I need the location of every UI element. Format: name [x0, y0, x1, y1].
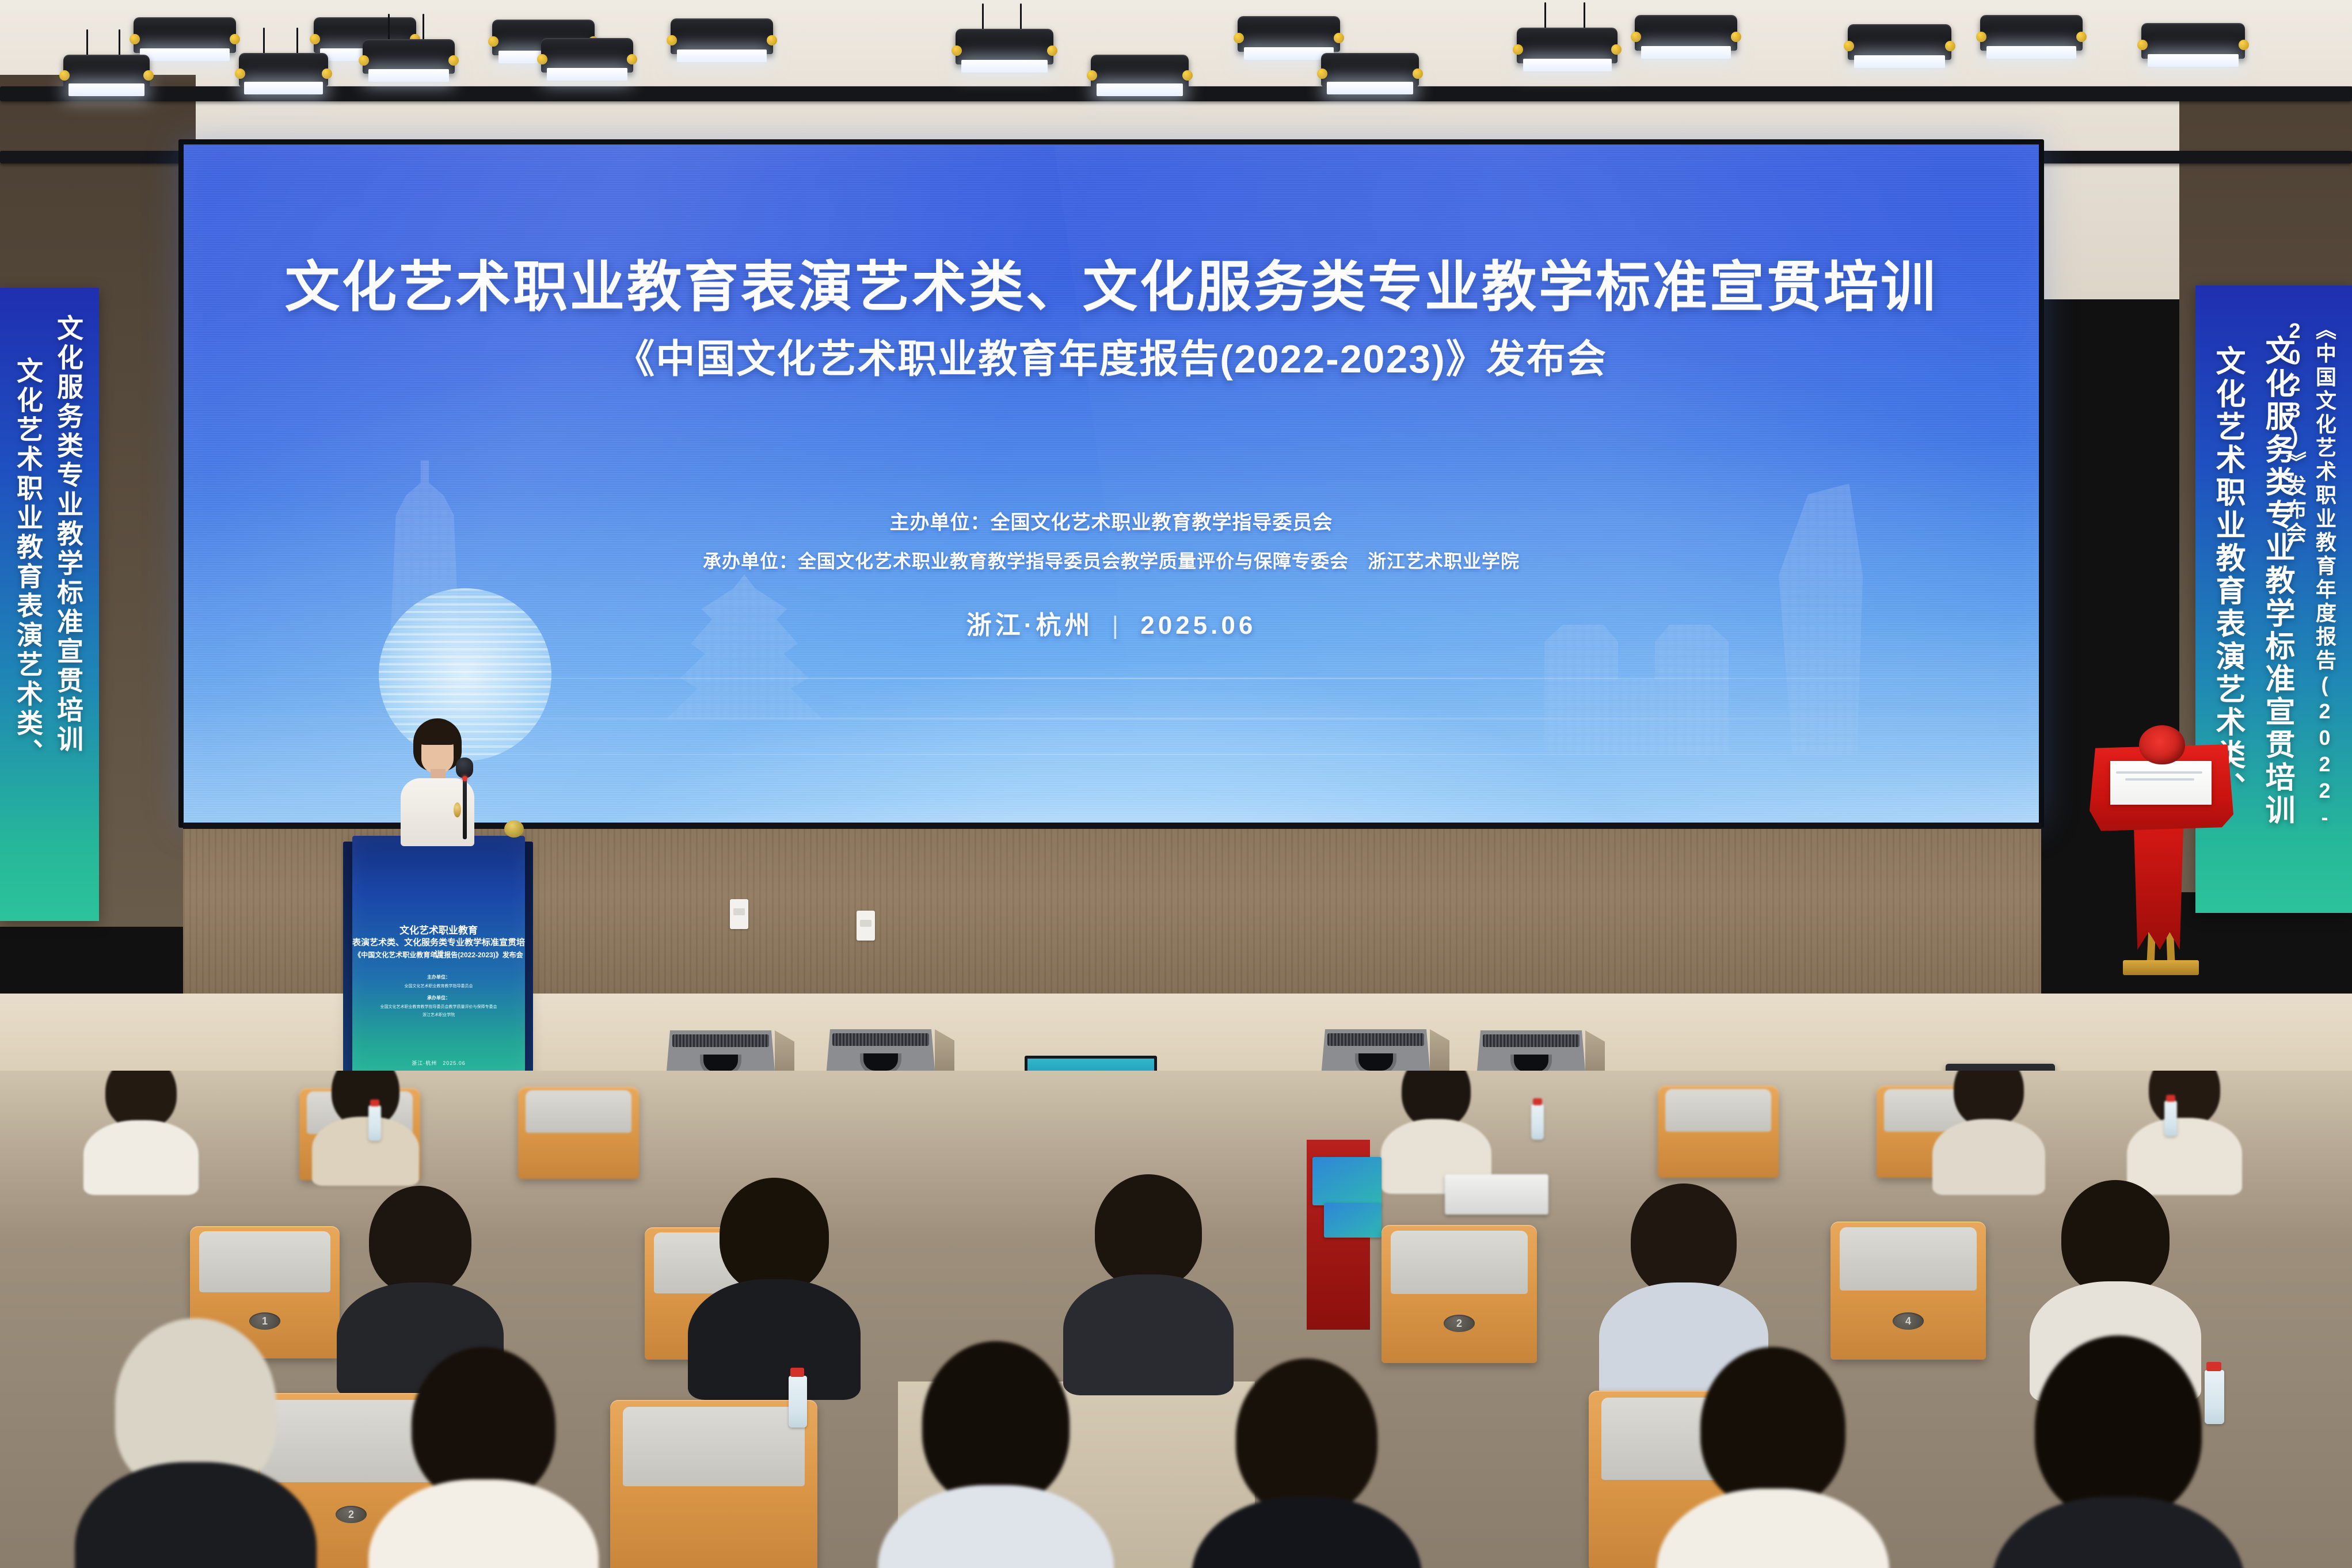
microphone-head-icon [456, 758, 473, 778]
laptop [1445, 1174, 1548, 1215]
event-co-organizer-line: 承办单位：全国文化艺术职业教育教学指导委员会教学质量评价与保障专委会 浙江艺术职… [183, 547, 2039, 573]
water-bottle [1531, 1104, 1544, 1140]
audience-member [1220, 1358, 1393, 1568]
left-banner-column-1: 文化艺术职业教育表演艺术类、 [9, 357, 47, 768]
event-organizer-line: 主办单位：全国文化艺术职业教育教学指导委员会 [183, 507, 2039, 535]
podium-organizer-label: 主办单位： [352, 974, 525, 980]
audience-member [909, 1341, 1082, 1568]
podium-title-line1: 文化艺术职业教育 [352, 922, 525, 937]
left-banner-column-2: 文化服务类专业教学标准宣贯培训 [50, 314, 87, 755]
program-booklet [1312, 1157, 1381, 1205]
stage-light-fixture [134, 17, 236, 53]
speaker-hair-front [417, 723, 458, 745]
water-bottle [789, 1376, 807, 1428]
stage-light-fixture [956, 29, 1053, 64]
audience-member [708, 1178, 840, 1339]
seat-number-label: 2 [336, 1506, 367, 1523]
audience-member [2026, 1335, 2210, 1568]
event-sub-title: 《中国文化艺术职业教育年度报告(2022-2023)》发布会 [183, 327, 2039, 384]
stage-light-fixture [1091, 55, 1189, 88]
water-bottle [368, 1105, 381, 1141]
stage-light-fixture [1635, 15, 1737, 51]
easel-base [2123, 960, 2199, 975]
audience-member [357, 1186, 484, 1335]
seat-number-label: 2 [1444, 1315, 1475, 1332]
speaker-brooch-icon [454, 802, 461, 817]
audience-member [2141, 1071, 2228, 1154]
podium-lamp [504, 820, 524, 838]
water-bottle [2205, 1370, 2224, 1424]
stage-light-fixture [239, 53, 328, 86]
ribbon-rosette-icon [2139, 725, 2185, 764]
ribbon-tail [2128, 823, 2190, 950]
wall-outlet-plate [730, 899, 748, 929]
stage-light-fixture [1238, 16, 1340, 52]
place-date-separator: | [1104, 611, 1130, 640]
stage-light-fixture [671, 18, 773, 54]
podium-organizer-value: 全国文化艺术职业教育教学指导委员会 [352, 983, 525, 989]
podium-co-organizer-value1: 全国文化艺术职业教育教学指导委员会教学质量评价与保障专委会 [352, 1004, 525, 1010]
stage-light-fixture [363, 39, 455, 74]
seat-number-label: 4 [1893, 1312, 1924, 1330]
right-banner-column-2: 文化服务类专业教学标准宣贯培训 [2256, 335, 2299, 827]
audience-member [1946, 1071, 2032, 1155]
stage-light-fixture [1517, 28, 1618, 63]
audience-member [98, 1071, 184, 1152]
event-date: 2025.06 [1140, 611, 1256, 640]
unveiling-plaque [2110, 761, 2212, 805]
event-main-title: 文化艺术职业教育表演艺术类、文化服务类专业教学标准宣贯培训 [183, 243, 2039, 322]
audience-member [1618, 1183, 1750, 1342]
podium-place-date: 浙江·杭州 2025.06 [352, 1059, 525, 1067]
audience-seat [610, 1400, 817, 1568]
audience-member [2049, 1180, 2182, 1341]
podium-subtitle: 《中国文化艺术职业教育年度报告(2022-2023)》发布会 [352, 950, 525, 960]
audience-member [397, 1347, 570, 1568]
audience-seat [1658, 1086, 1779, 1178]
wall-outlet-plate [857, 911, 875, 941]
speaker-podium: 文化艺术职业教育 表演艺术类、文化服务类专业教学标准宣贯培训 《中国文化艺术职业… [352, 836, 525, 1078]
stage-light-fixture [1321, 53, 1419, 86]
audience-member [1687, 1347, 1859, 1568]
water-bottle [2164, 1101, 2177, 1136]
podium-co-organizer-label: 承办单位： [352, 995, 525, 1001]
program-booklet [1324, 1203, 1381, 1238]
conference-hall-photo: 文化艺术职业教育表演艺术类、文化服务类专业教学标准宣贯培训 《中国文化艺术职业教… [0, 0, 2352, 1568]
event-place-date: 浙江·杭州 | 2025.06 [183, 604, 2039, 641]
audience-member [1082, 1174, 1215, 1335]
event-place: 浙江·杭州 [966, 611, 1094, 640]
unveiling-easel [2090, 708, 2233, 984]
audience-seat [518, 1087, 639, 1179]
stage-light-fixture [541, 38, 633, 73]
microphone-led-indicator [462, 776, 467, 781]
audience-seat: 2 [1381, 1225, 1537, 1363]
audience-member [322, 1071, 409, 1151]
audience-seat: 4 [1830, 1221, 1986, 1360]
screen-wave-line [183, 678, 2039, 679]
audience-area: 1 2 4 [0, 1071, 2352, 1568]
left-vertical-banner: 文化艺术职业教育表演艺术类、 文化服务类专业教学标准宣贯培训 [0, 288, 99, 921]
audience-member [1393, 1071, 1479, 1156]
stage-light-fixture [2141, 23, 2245, 59]
stage-light-fixture [63, 55, 150, 88]
audience-member [104, 1318, 288, 1560]
stage-light-fixture [1980, 15, 2083, 51]
podium-co-organizer-value2: 浙江艺术职业学院 [352, 1012, 525, 1018]
stage-light-fixture [1848, 24, 1951, 60]
